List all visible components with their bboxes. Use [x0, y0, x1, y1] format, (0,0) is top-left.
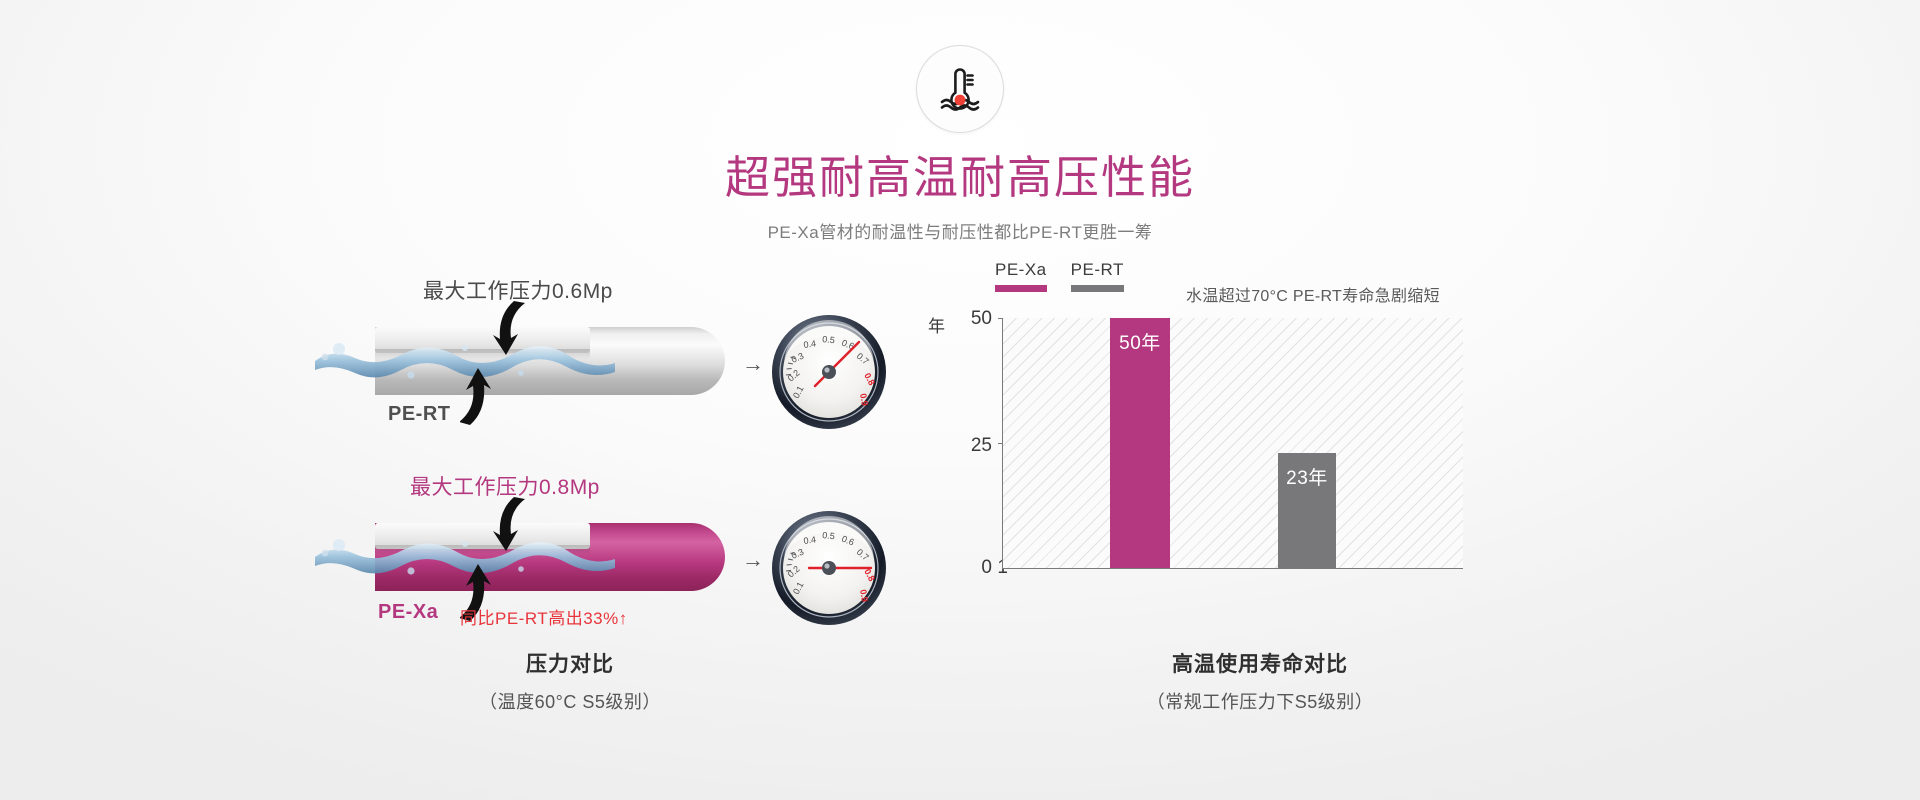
caption-pressure-sub: （温度60°C S5级别）	[370, 688, 770, 714]
y-axis-unit-label: 年	[928, 312, 945, 337]
bar-label-pexa: 50年	[1110, 328, 1170, 355]
chart-plot-area: 50年 23年	[1002, 318, 1463, 569]
y-tick-mark-25	[998, 443, 1003, 444]
legend-label-pert: PE-RT	[1071, 260, 1124, 280]
bar-pert: 23年	[1278, 453, 1336, 568]
lifespan-chart-panel: PE-Xa PE-RT 水温超过70°C PE-RT寿命急剧缩短 年 50 25…	[950, 260, 1570, 650]
thermometer-water-icon	[916, 45, 1004, 133]
pressure-gauge-pexa: 0.1 0.2 0.3 0.4 0.5 0.6 0.7 0.8 0.9	[770, 509, 888, 632]
svg-text:0.9: 0.9	[858, 589, 870, 603]
legend-item-pexa: PE-Xa	[995, 260, 1047, 292]
caption-pressure-title: 压力对比	[370, 648, 770, 678]
caption-pressure: 压力对比 （温度60°C S5级别）	[370, 648, 770, 714]
material-name-pert: PE-RT	[388, 403, 451, 426]
legend-label-pexa: PE-Xa	[995, 260, 1047, 280]
chart-legend: PE-Xa PE-RT	[995, 260, 1124, 292]
svg-text:0.5: 0.5	[822, 530, 835, 541]
page-subtitle: PE-Xa管材的耐温性与耐压性都比PE-RT更胜一筹	[0, 218, 1920, 243]
bar-label-pert: 23年	[1278, 463, 1336, 490]
y-tick-50: 50	[956, 308, 992, 330]
legend-swatch-pert	[1071, 285, 1124, 292]
y-tick-mark-50	[998, 318, 1003, 319]
page-title: 超强耐高温耐高压性能	[0, 155, 1920, 200]
svg-text:0.4: 0.4	[803, 534, 817, 546]
bar-pexa: 50年	[1110, 318, 1170, 568]
caption-lifespan-title: 高温使用寿命对比	[1000, 648, 1520, 678]
svg-text:0.9: 0.9	[858, 393, 870, 407]
material-name-pexa: PE-Xa	[378, 601, 438, 624]
pressure-gauge-pert: 0.1 0.2 0.3 0.4 0.5 0.6 0.7 0.8 0.9	[770, 313, 888, 436]
y-tick-25: 25	[956, 435, 992, 457]
legend-swatch-pexa	[995, 285, 1047, 292]
caption-lifespan-sub: （常规工作压力下S5级别）	[1000, 688, 1520, 714]
pipe-block-pert: 最大工作压力0.6Mp PE-RT →	[330, 275, 890, 435]
chart-annotation: 水温超过70°C PE-RT寿命急剧缩短	[1186, 282, 1440, 306]
svg-text:0.4: 0.4	[803, 338, 817, 350]
svg-text:0.5: 0.5	[822, 334, 835, 345]
legend-item-pert: PE-RT	[1071, 260, 1124, 292]
pipe-block-pexa: 最大工作压力0.8Mp PE-Xa 同比PE-RT高出33%↑ →	[330, 471, 890, 631]
arrow-right-icon: →	[742, 549, 764, 571]
callout-arrow-bottom-pert	[460, 351, 520, 427]
pressure-comparison-panel: 最大工作压力0.6Mp PE-RT →	[330, 275, 890, 631]
caption-lifespan: 高温使用寿命对比 （常规工作压力下S5级别）	[1000, 648, 1520, 714]
gain-note-pexa: 同比PE-RT高出33%↑	[460, 604, 628, 629]
page-header: 超强耐高温耐高压性能 PE-Xa管材的耐温性与耐压性都比PE-RT更胜一筹	[0, 0, 1920, 243]
arrow-right-icon: →	[742, 353, 764, 375]
